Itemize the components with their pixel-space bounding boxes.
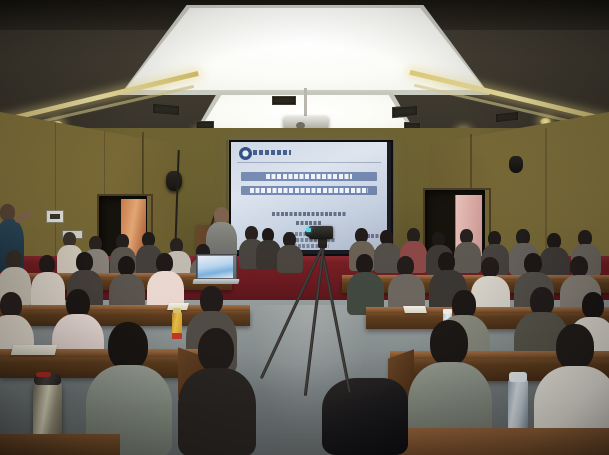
bottle-cap bbox=[172, 333, 182, 339]
university-crest-logo bbox=[239, 147, 252, 160]
papers-on-desk bbox=[11, 345, 57, 355]
desk-surface bbox=[0, 434, 120, 455]
slide-title-line-1 bbox=[241, 172, 377, 181]
projector-mount-pole bbox=[304, 88, 307, 118]
ceiling-vent bbox=[392, 105, 418, 118]
desk-surface bbox=[366, 307, 609, 313]
slide-title-line-2 bbox=[241, 186, 377, 195]
wall-speaker bbox=[166, 171, 182, 191]
laptop-screen bbox=[198, 256, 233, 278]
papers-on-desk bbox=[403, 306, 427, 313]
slide-subtitle-presenter bbox=[296, 221, 322, 225]
floor-bag bbox=[322, 378, 408, 455]
bottle-cap bbox=[443, 309, 452, 314]
wall-speaker bbox=[509, 156, 523, 173]
wall-plaque bbox=[46, 210, 64, 223]
thermos-red-accent bbox=[36, 372, 51, 377]
desk-surface bbox=[400, 428, 609, 455]
bottle-cap bbox=[509, 372, 527, 382]
ceiling-vent bbox=[152, 103, 180, 116]
laptop-base[interactable] bbox=[192, 279, 239, 284]
ceiling-vent bbox=[272, 96, 296, 105]
camera-recording-indicator bbox=[306, 228, 311, 232]
lecture-hall-photo bbox=[0, 0, 609, 455]
slide-subtitle-team bbox=[272, 212, 346, 216]
slide-divider bbox=[237, 162, 381, 163]
bottle-cap bbox=[173, 308, 181, 313]
university-name-text bbox=[253, 150, 291, 155]
